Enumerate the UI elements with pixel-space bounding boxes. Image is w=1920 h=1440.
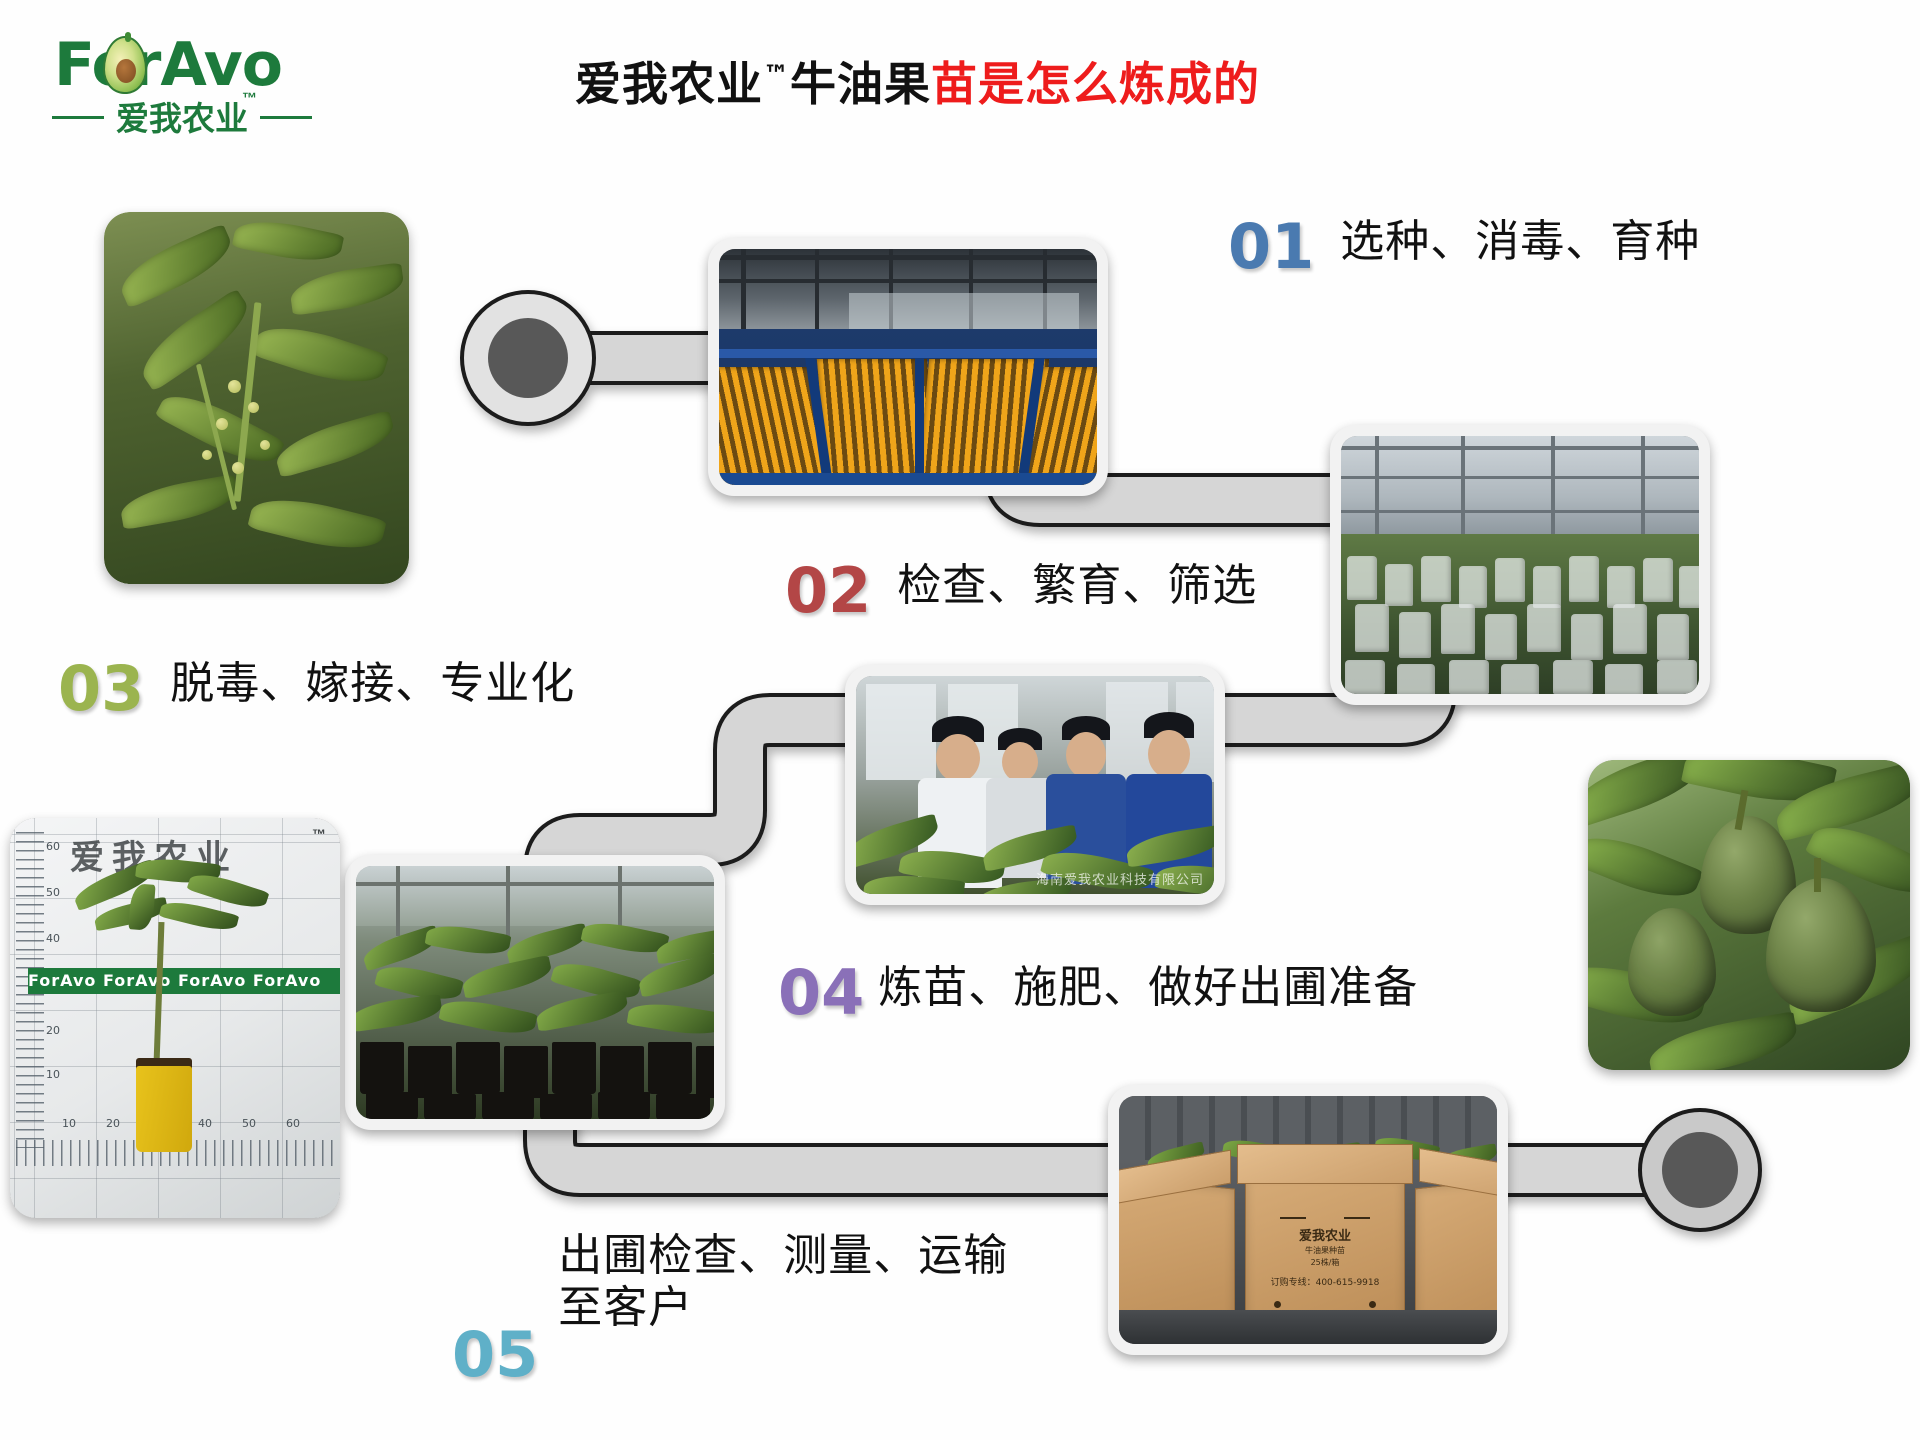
photo-avocado-flowering-branch [104,212,409,584]
step-03-text: 脱毒、嫁接、专业化 [170,658,575,710]
logo-wordmark: ForAvo [46,34,326,96]
carton-hotline: 订购专线：400-615-9918 [1246,1275,1404,1288]
photo-packed-cartons: 爱我农业 牛油果种苗 25株/箱 订购专线：400-615-9918 [1108,1085,1508,1355]
title-segment-product: 牛油果 [790,57,931,111]
ruler-h-label: 10 [62,1117,76,1130]
brand-logo: ForAvo 爱我农业 ™ [46,34,326,154]
photo-seedling-measurement-board: 爱我农业 ™ 60 50 40 30 20 10 10 20 40 50 60 … [10,818,340,1218]
infographic-canvas: ForAvo 爱我农业 ™ 爱我农业™牛油果苗是怎么炼成的 [0,0,1920,1440]
step-05-text-line1: 出圃检查、测量、运输 [558,1230,1008,1282]
ruler-v-label: 40 [46,932,60,945]
measurement-board-brand-band: ForAvo ForAvo ForAvo ForAvo [28,968,340,994]
step-01: 01 选种、消毒、育种 [1228,216,1700,278]
photo-inner [719,249,1097,485]
step-04: 04 炼苗、施肥、做好出圃准备 [778,962,1418,1024]
step-04-number: 04 [778,962,864,1024]
photo-inner [356,866,714,1119]
step-05: 05 出圃检查、测量、运输 至客户 [452,1288,1008,1392]
ruler-v-label: 50 [46,886,60,899]
ruler-h-label: 50 [242,1117,256,1130]
photo-greenhouse-bagged-plants [1330,425,1710,705]
step-02: 02 检查、繁育、筛选 [785,560,1257,622]
photo-inner [1588,760,1910,1070]
step-04-text: 炼苗、施肥、做好出圃准备 [878,962,1418,1014]
title-segment-brand: 爱我农业 [575,57,763,111]
ruler-v-label: 10 [46,1068,60,1081]
logo-rule-left [52,116,104,119]
step-02-text: 检查、繁育、筛选 [897,560,1257,612]
photo-inner [104,212,409,584]
flow-end-node-dot [1662,1132,1738,1208]
photo-inner: 海南爱我农业科技有限公司 [856,676,1214,894]
logo-chinese-text: 爱我农业 [116,92,248,140]
measurement-board-trademark: ™ [312,826,326,842]
step-01-number: 01 [1228,216,1314,278]
photo-potted-seedling-rows [345,855,725,1130]
ruler-v-label: 60 [46,840,60,853]
photo-team-inspecting-seedlings: 海南爱我农业科技有限公司 [845,665,1225,905]
page-title: 爱我农业™牛油果苗是怎么炼成的 [575,48,1260,114]
team-photo-watermark: 海南爱我农业科技有限公司 [1036,869,1204,888]
ruler-h-label: 40 [198,1117,212,1130]
step-01-text: 选种、消毒、育种 [1340,216,1700,268]
photo-inner: 爱我农业 ™ 60 50 40 30 20 10 10 20 40 50 60 … [10,818,340,1218]
photo-greenhouse-seed-trays [708,238,1108,496]
title-segment-highlight: 苗是怎么炼成的 [931,57,1260,111]
carton-brand-text: 爱我农业 [1246,1225,1404,1244]
avocado-icon [103,36,147,94]
logo-trademark-symbol: ™ [242,90,257,107]
photo-inner: 爱我农业 牛油果种苗 25株/箱 订购专线：400-615-9918 [1119,1096,1497,1344]
photo-inner [1341,436,1699,694]
step-03: 03 脱毒、嫁接、专业化 [58,658,575,720]
step-02-number: 02 [785,560,871,622]
ruler-h-label: 60 [286,1117,300,1130]
avocado-stem-icon [125,32,131,42]
flow-start-node-dot [488,318,568,398]
carton-line2: 牛油果种苗 [1246,1245,1404,1256]
step-05-number: 05 [452,1324,538,1386]
title-trademark-symbol: ™ [763,61,790,91]
carton-line3: 25株/箱 [1246,1257,1404,1268]
logo-subline: 爱我农业 ™ [46,94,326,140]
step-03-number: 03 [58,658,144,720]
step-05-text-line2: 至客户 [558,1282,1008,1334]
step-05-text: 出圃检查、测量、运输 至客户 [558,1230,1008,1334]
logo-rule-right [260,116,312,119]
ruler-h-label: 20 [106,1117,120,1130]
ruler-v-label: 20 [46,1024,60,1037]
photo-avocado-fruit-on-tree [1588,760,1910,1070]
